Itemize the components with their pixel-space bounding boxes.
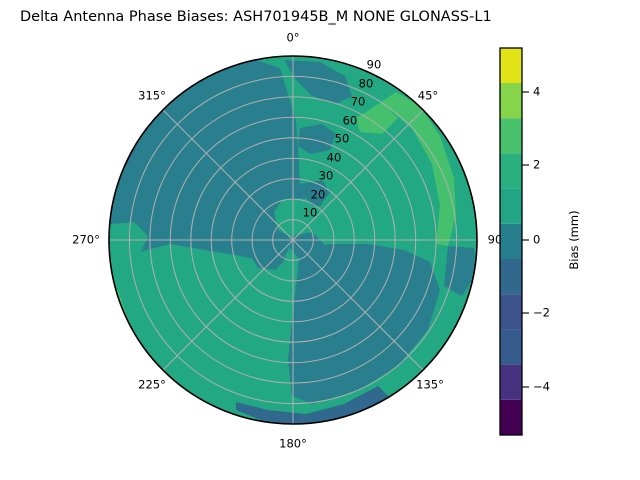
colorbar-band-6 [500, 189, 522, 224]
polar-grid [109, 56, 477, 424]
page-title: Delta Antenna Phase Biases: ASH701945B_M… [20, 9, 492, 25]
r-label-20: 20 [311, 188, 326, 202]
r-label-50: 50 [335, 132, 350, 146]
r-label-70: 70 [351, 95, 366, 109]
r-label-80: 80 [359, 77, 374, 91]
r-label-10: 10 [303, 206, 318, 220]
colorbar-band-0 [500, 400, 522, 435]
colorbar-band-10 [500, 48, 522, 83]
colorbar-band-4 [500, 259, 522, 294]
colorbar-axis-label: Bias (mm) [567, 210, 581, 269]
colorbar-tick-label-minus4: −4 [533, 380, 550, 394]
colorbar-band-7 [500, 153, 522, 188]
colorbar-band-9 [500, 83, 522, 118]
r-label-30: 30 [319, 169, 334, 183]
r-label-90: 90 [367, 58, 382, 72]
theta-label-225: 225° [138, 378, 166, 392]
polar-bias-figure: Delta Antenna Phase Biases: ASH701945B_M… [0, 0, 640, 480]
theta-label-315: 315° [138, 89, 166, 103]
theta-label-180: 180° [279, 437, 307, 451]
colorbar-tick-label-2: 2 [533, 158, 540, 172]
r-label-40: 40 [327, 151, 342, 165]
colorbar-tick-label-minus2: −2 [533, 306, 550, 320]
theta-label-135: 135° [416, 378, 444, 392]
colorbar-band-2 [500, 329, 522, 364]
colorbar-band-5 [500, 224, 522, 259]
theta-label-0: 0° [286, 31, 299, 45]
colorbar-band-8 [500, 118, 522, 153]
theta-label-270: 270° [72, 233, 100, 247]
colorbar-tick-label-0: 0 [533, 233, 540, 247]
r-label-60: 60 [343, 114, 358, 128]
colorbar-bands [500, 48, 522, 435]
theta-label-45: 45° [418, 89, 438, 103]
colorbar-band-3 [500, 294, 522, 329]
colorbar-tick-label-4: 4 [533, 85, 540, 99]
colorbar-band-1 [500, 365, 522, 400]
